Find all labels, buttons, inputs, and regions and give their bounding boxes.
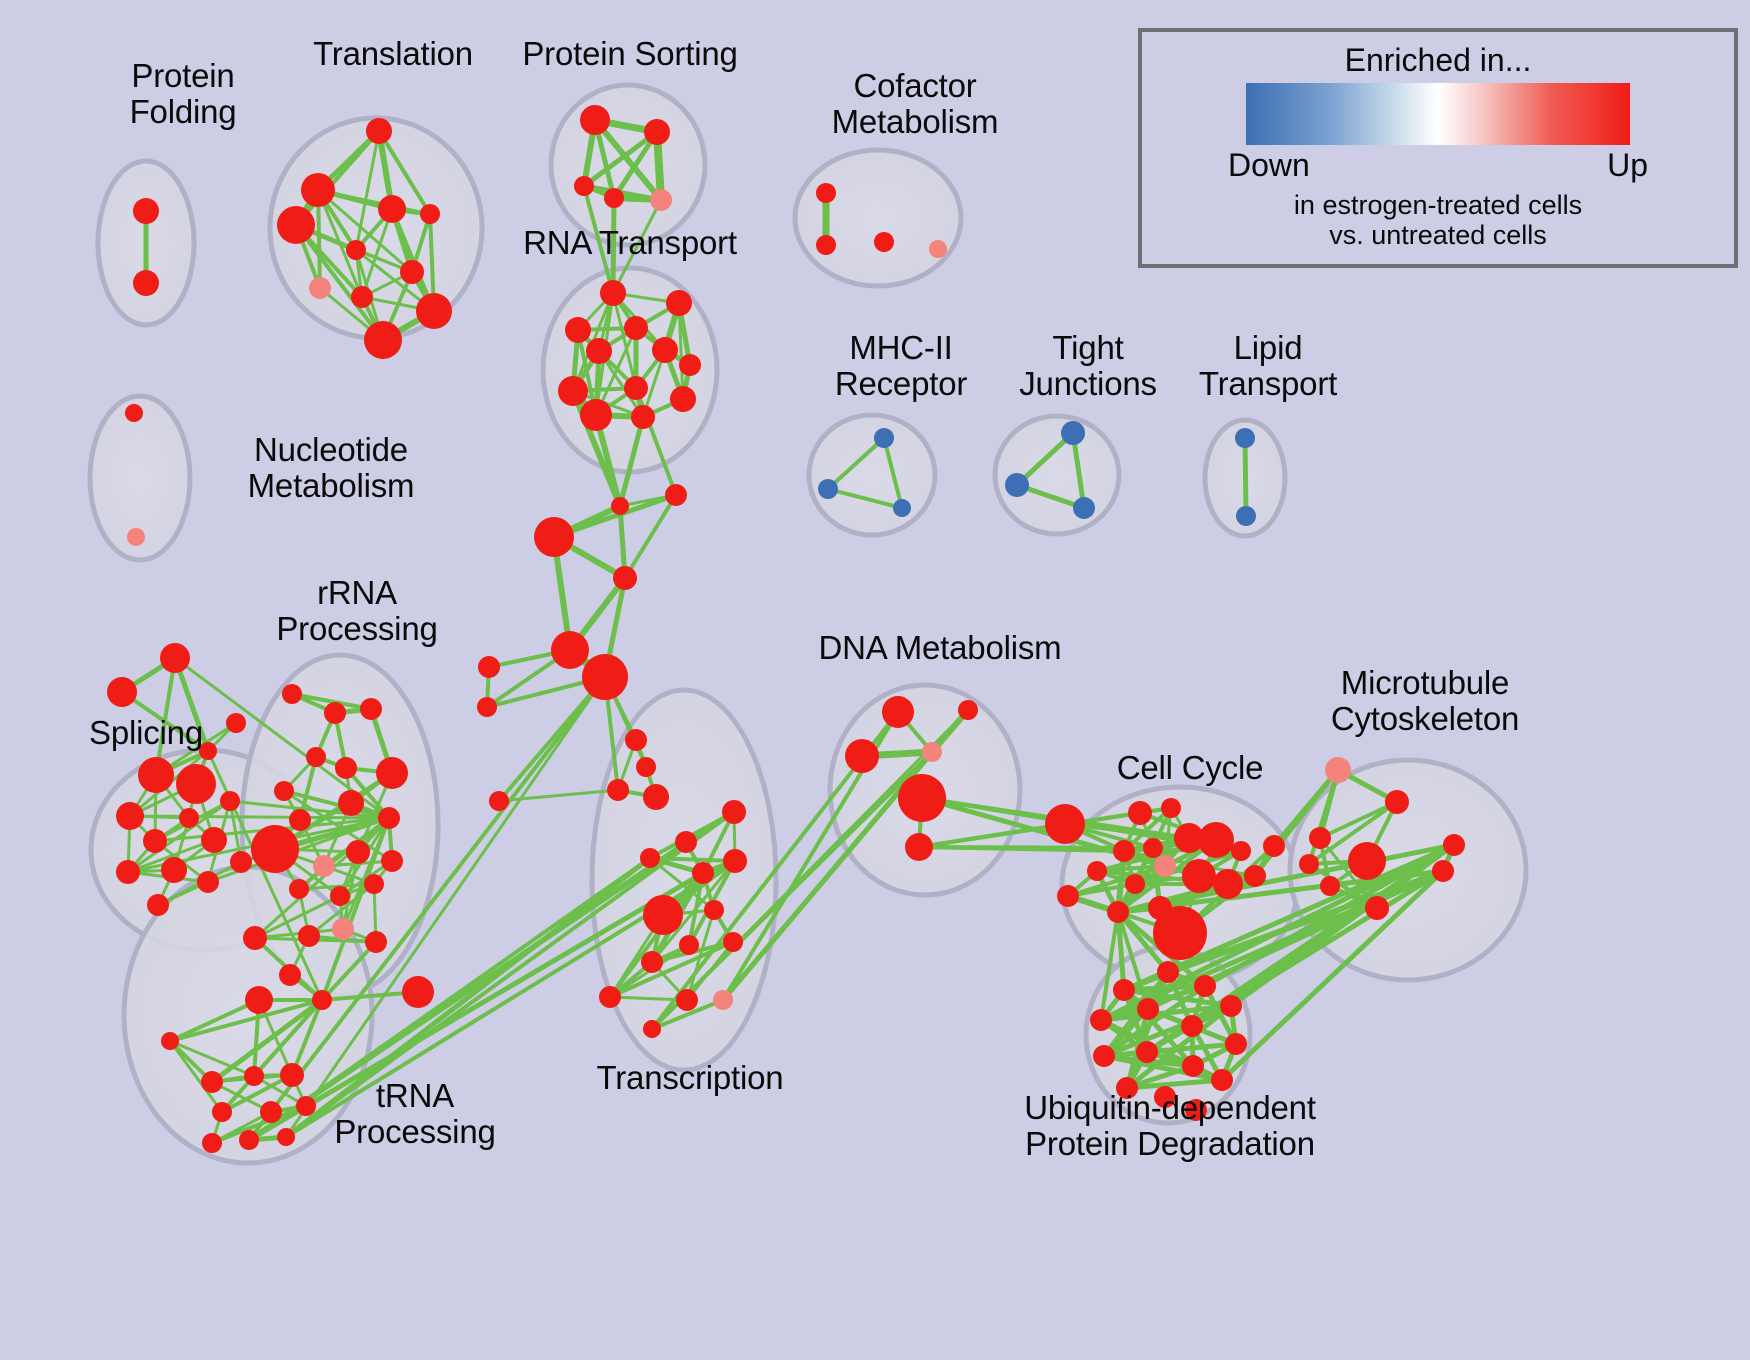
gene-set-node[interactable] xyxy=(245,986,273,1014)
gene-set-node[interactable] xyxy=(277,1128,295,1146)
gene-set-node[interactable] xyxy=(338,790,364,816)
gene-set-node[interactable] xyxy=(652,337,678,363)
gene-set-node[interactable] xyxy=(816,183,836,203)
gene-set-node[interactable] xyxy=(558,376,588,406)
gene-set-node[interactable] xyxy=(644,119,670,145)
gene-set-node[interactable] xyxy=(643,895,683,935)
gene-set-node[interactable] xyxy=(133,270,159,296)
gene-set-node[interactable] xyxy=(1154,855,1176,877)
cluster-hull-protein-sorting xyxy=(551,85,705,245)
gene-set-node[interactable] xyxy=(260,1101,282,1123)
gene-set-node[interactable] xyxy=(1137,998,1159,1020)
gene-set-node[interactable] xyxy=(1073,497,1095,519)
gene-set-node[interactable] xyxy=(1154,1086,1176,1108)
gene-set-node[interactable] xyxy=(161,857,187,883)
gene-set-node[interactable] xyxy=(1235,428,1255,448)
gene-set-node[interactable] xyxy=(301,173,335,207)
gene-set-node[interactable] xyxy=(107,677,137,707)
gene-set-node[interactable] xyxy=(1185,1099,1207,1121)
gene-set-node[interactable] xyxy=(1225,1033,1247,1055)
gene-set-node[interactable] xyxy=(650,189,672,211)
gene-set-node[interactable] xyxy=(1309,827,1331,849)
gene-set-node[interactable] xyxy=(133,198,159,224)
gene-set-node[interactable] xyxy=(365,931,387,953)
cluster-hull-mhc-ii-receptor xyxy=(809,415,935,535)
gene-set-node[interactable] xyxy=(670,386,696,412)
gene-set-node[interactable] xyxy=(666,290,692,316)
gene-set-node[interactable] xyxy=(298,925,320,947)
gene-set-node[interactable] xyxy=(636,757,656,777)
gene-set-node[interactable] xyxy=(816,235,836,255)
gene-set-node[interactable] xyxy=(1299,854,1319,874)
gene-set-node[interactable] xyxy=(313,855,335,877)
gene-set-node[interactable] xyxy=(1194,975,1216,997)
gene-set-node[interactable] xyxy=(1181,1015,1203,1037)
gene-set-node[interactable] xyxy=(296,1096,316,1116)
gene-set-node[interactable] xyxy=(239,1130,259,1150)
gene-set-node[interactable] xyxy=(1198,822,1234,858)
gene-set-node[interactable] xyxy=(1136,1041,1158,1063)
gene-set-node[interactable] xyxy=(679,935,699,955)
figure-canvas: Protein FoldingTranslationNucleotide Met… xyxy=(0,0,1750,1360)
gene-set-node[interactable] xyxy=(324,702,346,724)
gene-set-node[interactable] xyxy=(306,747,326,767)
gene-set-node[interactable] xyxy=(565,317,591,343)
gene-set-node[interactable] xyxy=(360,698,382,720)
gene-set-node[interactable] xyxy=(202,1133,222,1153)
gene-set-node[interactable] xyxy=(845,739,879,773)
gene-set-node[interactable] xyxy=(665,484,687,506)
gene-set-node[interactable] xyxy=(1107,901,1129,923)
gene-set-node[interactable] xyxy=(244,1066,264,1086)
gene-set-node[interactable] xyxy=(274,781,294,801)
gene-set-node[interactable] xyxy=(1182,859,1216,893)
gene-set-node[interactable] xyxy=(477,697,497,717)
gene-set-node[interactable] xyxy=(905,833,933,861)
gene-set-node[interactable] xyxy=(346,840,370,864)
gene-set-node[interactable] xyxy=(197,871,219,893)
gene-set-node[interactable] xyxy=(574,176,594,196)
legend-colorbar xyxy=(1246,83,1630,145)
gene-set-node[interactable] xyxy=(1116,1077,1138,1099)
gene-set-node[interactable] xyxy=(330,886,350,906)
gene-set-node[interactable] xyxy=(364,321,402,359)
gene-set-node[interactable] xyxy=(1244,865,1266,887)
gene-set-node[interactable] xyxy=(1161,798,1181,818)
gene-set-node[interactable] xyxy=(381,850,403,872)
gene-set-node[interactable] xyxy=(692,862,714,884)
gene-set-node[interactable] xyxy=(1213,869,1243,899)
gene-set-node[interactable] xyxy=(1231,841,1251,861)
gene-set-node[interactable] xyxy=(599,986,621,1008)
gene-set-node[interactable] xyxy=(138,757,174,793)
gene-set-node[interactable] xyxy=(643,784,669,810)
gene-set-node[interactable] xyxy=(586,338,612,364)
cluster-hull-cofactor-metabolism xyxy=(795,150,961,286)
gene-set-node[interactable] xyxy=(351,286,373,308)
gene-set-node[interactable] xyxy=(929,240,947,258)
edge xyxy=(1245,438,1246,516)
gene-set-node[interactable] xyxy=(280,1063,304,1087)
gene-set-node[interactable] xyxy=(376,757,408,789)
gene-set-node[interactable] xyxy=(179,808,199,828)
gene-set-node[interactable] xyxy=(723,849,747,873)
gene-set-node[interactable] xyxy=(723,932,743,952)
gene-set-node[interactable] xyxy=(489,791,509,811)
gene-set-node[interactable] xyxy=(478,656,500,678)
gene-set-node[interactable] xyxy=(1113,979,1135,1001)
gene-set-node[interactable] xyxy=(127,528,145,546)
gene-set-node[interactable] xyxy=(641,951,663,973)
gene-set-node[interactable] xyxy=(230,851,252,873)
gene-set-node[interactable] xyxy=(1143,838,1163,858)
gene-set-node[interactable] xyxy=(534,517,574,557)
gene-set-node[interactable] xyxy=(251,825,299,873)
gene-set-node[interactable] xyxy=(116,860,140,884)
gene-set-node[interactable] xyxy=(143,829,167,853)
gene-set-node[interactable] xyxy=(1157,961,1179,983)
gene-set-node[interactable] xyxy=(1432,860,1454,882)
gene-set-node[interactable] xyxy=(289,879,309,899)
gene-set-node[interactable] xyxy=(1093,1045,1115,1067)
gene-set-node[interactable] xyxy=(643,1020,661,1038)
gene-set-node[interactable] xyxy=(958,700,978,720)
gene-set-node[interactable] xyxy=(624,376,648,400)
gene-set-node[interactable] xyxy=(416,293,452,329)
gene-set-node[interactable] xyxy=(679,354,701,376)
gene-set-node[interactable] xyxy=(199,742,217,760)
gene-set-node[interactable] xyxy=(1125,874,1145,894)
gene-set-node[interactable] xyxy=(160,643,190,673)
gene-set-node[interactable] xyxy=(226,713,246,733)
gene-set-node[interactable] xyxy=(176,764,216,804)
gene-set-node[interactable] xyxy=(631,405,655,429)
gene-set-node[interactable] xyxy=(607,779,629,801)
gene-set-node[interactable] xyxy=(893,499,911,517)
gene-set-node[interactable] xyxy=(1090,1009,1112,1031)
gene-set-node[interactable] xyxy=(400,260,424,284)
gene-set-node[interactable] xyxy=(1325,757,1351,783)
gene-set-node[interactable] xyxy=(312,990,332,1010)
gene-set-node[interactable] xyxy=(1113,840,1135,862)
edge xyxy=(130,816,389,818)
gene-set-node[interactable] xyxy=(201,1071,223,1093)
gene-set-node[interactable] xyxy=(1320,876,1340,896)
gene-set-node[interactable] xyxy=(220,791,240,811)
gene-set-node[interactable] xyxy=(378,807,400,829)
gene-set-node[interactable] xyxy=(366,118,392,144)
gene-set-node[interactable] xyxy=(580,105,610,135)
gene-set-node[interactable] xyxy=(1057,885,1079,907)
gene-set-node[interactable] xyxy=(675,831,697,853)
gene-set-node[interactable] xyxy=(625,729,647,751)
gene-set-node[interactable] xyxy=(402,976,434,1008)
gene-set-node[interactable] xyxy=(1061,421,1085,445)
gene-set-node[interactable] xyxy=(212,1102,232,1122)
gene-set-node[interactable] xyxy=(1128,801,1152,825)
edge xyxy=(613,198,614,293)
gene-set-node[interactable] xyxy=(882,696,914,728)
gene-set-node[interactable] xyxy=(243,926,267,950)
gene-set-node[interactable] xyxy=(147,894,169,916)
gene-set-node[interactable] xyxy=(161,1032,179,1050)
gene-set-node[interactable] xyxy=(1211,1069,1233,1091)
gene-set-node[interactable] xyxy=(582,654,628,700)
gene-set-node[interactable] xyxy=(378,195,406,223)
gene-set-node[interactable] xyxy=(1220,995,1242,1017)
gene-set-node[interactable] xyxy=(1005,473,1029,497)
gene-set-node[interactable] xyxy=(624,316,648,340)
gene-set-node[interactable] xyxy=(1348,842,1386,880)
gene-set-node[interactable] xyxy=(640,848,660,868)
gene-set-node[interactable] xyxy=(600,280,626,306)
gene-set-node[interactable] xyxy=(898,774,946,822)
gene-set-node[interactable] xyxy=(1365,896,1389,920)
gene-set-node[interactable] xyxy=(676,989,698,1011)
gene-set-node[interactable] xyxy=(1087,861,1107,881)
gene-set-node[interactable] xyxy=(420,204,440,224)
gene-set-node[interactable] xyxy=(1443,834,1465,856)
gene-set-node[interactable] xyxy=(922,742,942,762)
gene-set-node[interactable] xyxy=(1236,506,1256,526)
gene-set-node[interactable] xyxy=(551,631,589,669)
gene-set-node[interactable] xyxy=(580,399,612,431)
gene-set-node[interactable] xyxy=(1263,835,1285,857)
gene-set-node[interactable] xyxy=(611,497,629,515)
legend-title: Enriched in... xyxy=(1142,42,1734,79)
gene-set-node[interactable] xyxy=(282,684,302,704)
gene-set-node[interactable] xyxy=(1385,790,1409,814)
gene-set-node[interactable] xyxy=(713,990,733,1010)
gene-set-node[interactable] xyxy=(1045,804,1085,844)
gene-set-node[interactable] xyxy=(125,404,143,422)
gene-set-node[interactable] xyxy=(704,900,724,920)
legend-low-label: Down xyxy=(1228,147,1310,184)
gene-set-node[interactable] xyxy=(1182,1055,1204,1077)
legend-panel: Enriched in... Down Up in estrogen-treat… xyxy=(1138,28,1738,268)
gene-set-node[interactable] xyxy=(364,874,384,894)
gene-set-node[interactable] xyxy=(201,827,227,853)
gene-set-node[interactable] xyxy=(613,566,637,590)
gene-set-node[interactable] xyxy=(116,802,144,830)
gene-set-node[interactable] xyxy=(309,277,331,299)
gene-set-node[interactable] xyxy=(1153,906,1207,960)
gene-set-node[interactable] xyxy=(874,232,894,252)
gene-set-node[interactable] xyxy=(604,188,624,208)
gene-set-node[interactable] xyxy=(289,809,311,831)
gene-set-node[interactable] xyxy=(279,964,301,986)
gene-set-node[interactable] xyxy=(818,479,838,499)
gene-set-node[interactable] xyxy=(277,206,315,244)
gene-set-node[interactable] xyxy=(332,918,354,940)
gene-set-node[interactable] xyxy=(335,757,357,779)
legend-endpoints: Down Up xyxy=(1214,147,1662,184)
legend-caption: in estrogen-treated cells vs. untreated … xyxy=(1148,190,1728,250)
gene-set-node[interactable] xyxy=(874,428,894,448)
gene-set-node[interactable] xyxy=(346,240,366,260)
legend-high-label: Up xyxy=(1607,147,1648,184)
gene-set-node[interactable] xyxy=(722,800,746,824)
